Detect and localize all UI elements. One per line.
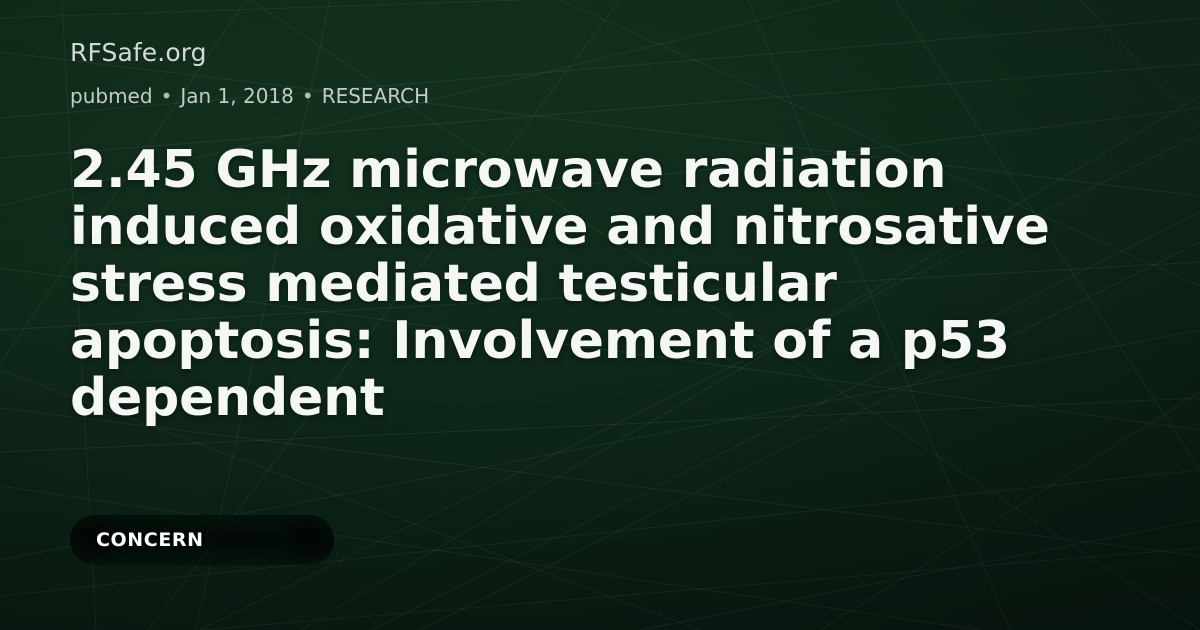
status-badge: CONCERN bbox=[70, 515, 334, 565]
meta-separator-2: • bbox=[302, 84, 314, 108]
article-meta: pubmed • Jan 1, 2018 • RESEARCH bbox=[70, 84, 429, 108]
site-name: RFSafe.org bbox=[70, 38, 207, 68]
meta-separator-1: • bbox=[161, 84, 173, 108]
meta-source: pubmed bbox=[70, 84, 153, 108]
social-share-card: RFSafe.org pubmed • Jan 1, 2018 • RESEAR… bbox=[0, 0, 1200, 630]
meta-category: RESEARCH bbox=[322, 84, 429, 108]
status-badge-label: CONCERN bbox=[96, 529, 204, 551]
card-content: RFSafe.org pubmed • Jan 1, 2018 • RESEAR… bbox=[70, 0, 1130, 630]
meta-date: Jan 1, 2018 bbox=[180, 84, 294, 108]
page-title: 2.45 GHz microwave radiation induced oxi… bbox=[70, 142, 1090, 427]
